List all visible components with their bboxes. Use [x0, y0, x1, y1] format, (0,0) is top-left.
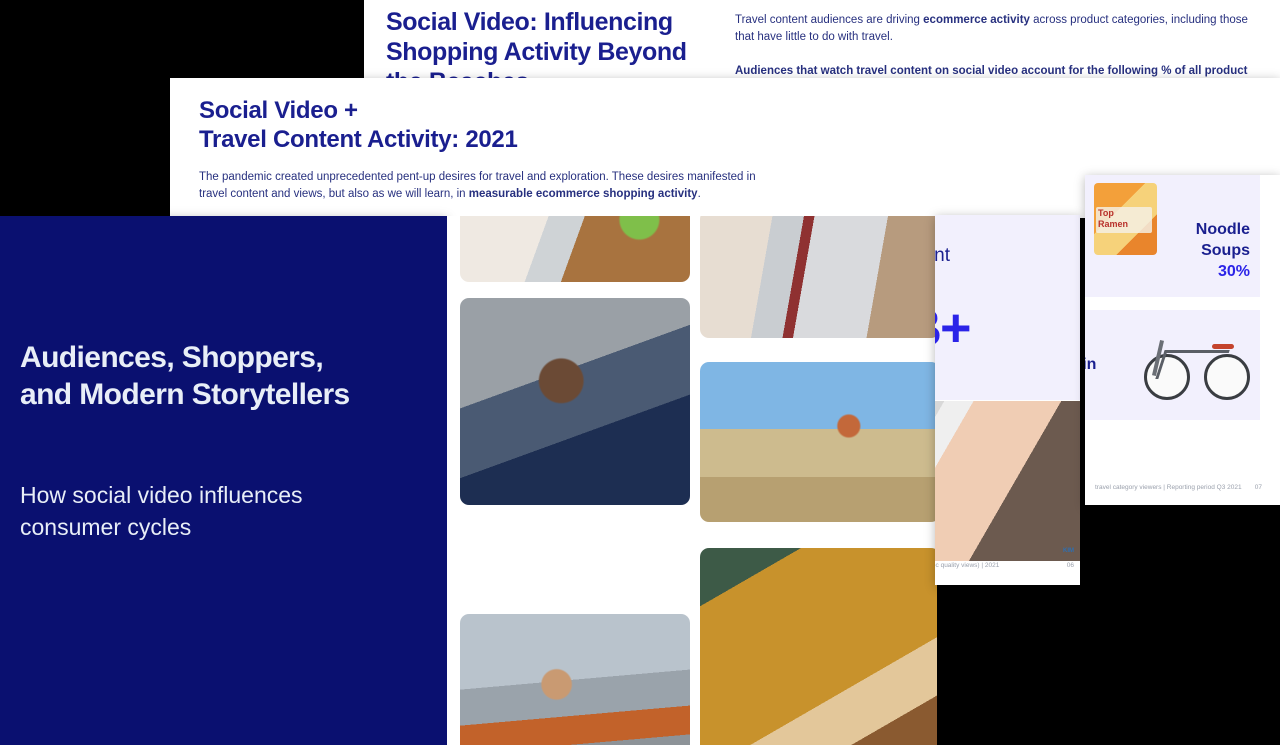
products-footnote: travel category viewers | Reporting peri…: [1095, 484, 1242, 491]
para1-before: Travel content audiences are driving: [735, 14, 923, 26]
minutes-label-line2: ching: [935, 269, 1080, 295]
bike-seat: [1212, 344, 1234, 349]
photographer-in-field-photo: [700, 362, 937, 522]
bike-frame: [1155, 350, 1229, 379]
man-at-laptop-photo: KIM: [935, 401, 1080, 561]
ramen-brand-line2: Ramen: [1098, 219, 1152, 230]
noodle-soups-line1: Noodle: [1196, 221, 1250, 238]
noodle-soups-percent: 30%: [1196, 261, 1250, 282]
slide-travel-body-bold: measurable ecommerce shopping activity: [469, 188, 698, 200]
mountain-bike-image: [1142, 328, 1250, 400]
mountain-bikes-label: tain: [1085, 354, 1096, 375]
slide-travel-body: The pandemic created unprecedented pent-…: [199, 169, 779, 203]
minutes-value: 2B+: [935, 299, 1080, 357]
cover-subtitle-line1: How social video influences: [20, 479, 420, 511]
products-page-number: 07: [1255, 484, 1262, 491]
slide-travel-heading: Social Video + Travel Content Activity: …: [199, 96, 759, 154]
hands-on-laptop-photo: [700, 548, 937, 745]
slide-influencing-paragraph-1: Travel content audiences are driving eco…: [735, 12, 1265, 46]
ramen-brand-text: Top Ramen: [1098, 208, 1152, 230]
noodle-soups-row: Top Ramen Noodle Soups 30%: [1085, 175, 1260, 297]
cover-title-line2: and Modern Storytellers: [20, 376, 440, 413]
screenshot-stage: Social Video: Influencing Shopping Activ…: [0, 0, 1280, 745]
cover-subtitle-line2: consumer cycles: [20, 511, 420, 543]
cover-title: Audiences, Shoppers, and Modern Storytel…: [20, 339, 440, 413]
slide-travel-heading-line1: Social Video +: [199, 96, 759, 125]
slide-cover-audiences-shoppers[interactable]: Audiences, Shoppers, and Modern Storytel…: [0, 216, 447, 745]
ramen-brand-line1: Top: [1098, 208, 1152, 219]
cover-subtitle: How social video influences consumer cyc…: [20, 479, 420, 543]
minutes-page-number: 06: [1067, 562, 1074, 569]
noodle-soups-line2: Soups: [1201, 242, 1250, 259]
woman-holding-tablet-photo: [700, 216, 937, 338]
noodle-soups-label: Noodle Soups 30%: [1196, 219, 1250, 282]
mountain-bikes-row: tain: [1085, 310, 1260, 420]
minutes-label: es Spent ching: [935, 243, 1080, 295]
photo-watermark: KIM: [1063, 548, 1074, 555]
minutes-footnote: tched (based on 30sec quality views) | 2…: [935, 562, 1073, 569]
minutes-label-line1: es Spent: [935, 243, 1080, 269]
slide-travel-body-after: .: [698, 188, 701, 200]
magazine-on-desk-photo: [460, 216, 690, 282]
cover-title-line1: Audiences, Shoppers,: [20, 339, 440, 376]
woman-crossing-street-photo: [460, 614, 690, 745]
top-ramen-package-image: Top Ramen: [1094, 183, 1157, 255]
slide-minutes-spent-watching[interactable]: es Spent ching 2B+ KIM tched (based on 3…: [935, 215, 1080, 585]
slide-product-categories[interactable]: Top Ramen Noodle Soups 30% tain travel c…: [1085, 175, 1280, 505]
para1-bold: ecommerce activity: [923, 14, 1030, 26]
man-with-headphones-photo: [460, 298, 690, 505]
slide-photo-collage[interactable]: [447, 216, 937, 745]
slide-travel-heading-line2: Travel Content Activity: 2021: [199, 125, 759, 154]
